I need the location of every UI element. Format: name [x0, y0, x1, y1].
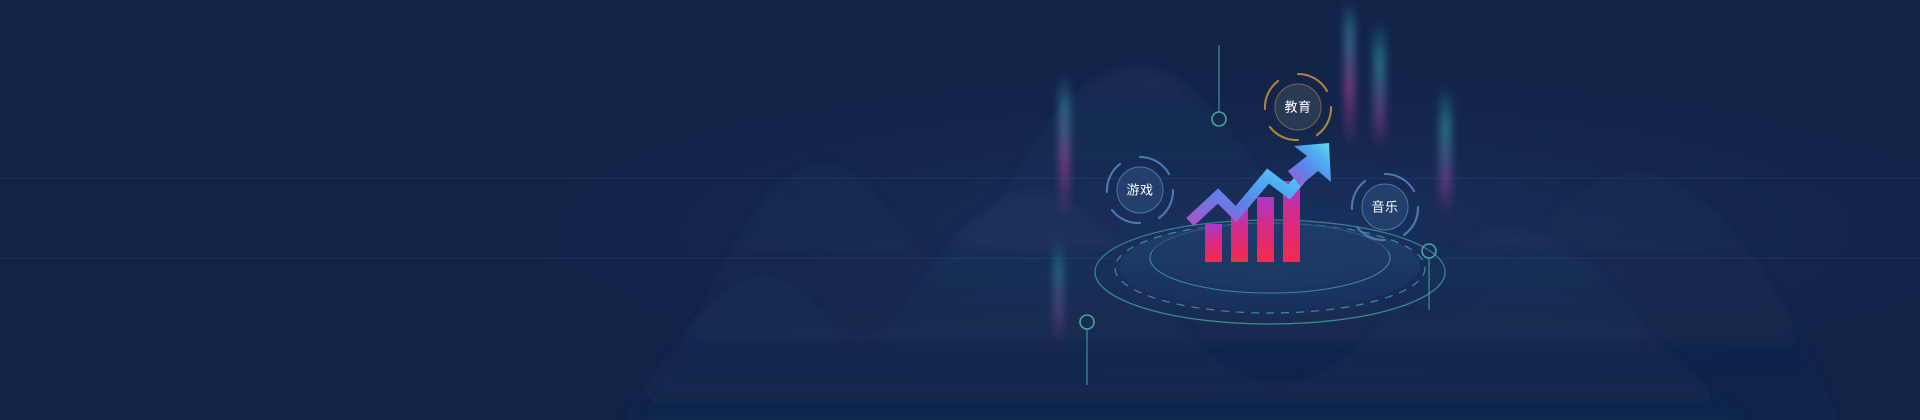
category-badge-label: 游戏: [1126, 184, 1153, 199]
node-circle-icon: [1212, 112, 1226, 126]
category-badge-label: 音乐: [1371, 200, 1398, 216]
connector-node-right[interactable]: [1422, 244, 1436, 310]
category-badge-music[interactable]: 音乐: [1352, 174, 1418, 240]
category-badge-games[interactable]: 游戏: [1107, 157, 1173, 223]
category-badge-label: 教育: [1284, 100, 1311, 116]
node-circle-icon: [1080, 315, 1094, 329]
connector-node-left[interactable]: [1080, 315, 1094, 385]
connector-node-top[interactable]: [1212, 45, 1226, 126]
node-circle-icon: [1422, 244, 1436, 258]
category-badge-education[interactable]: 教育: [1265, 74, 1331, 140]
overlay-layer: 游戏 教育 音乐: [0, 0, 1920, 420]
illustration-canvas: 游戏 教育 音乐: [0, 0, 1920, 420]
